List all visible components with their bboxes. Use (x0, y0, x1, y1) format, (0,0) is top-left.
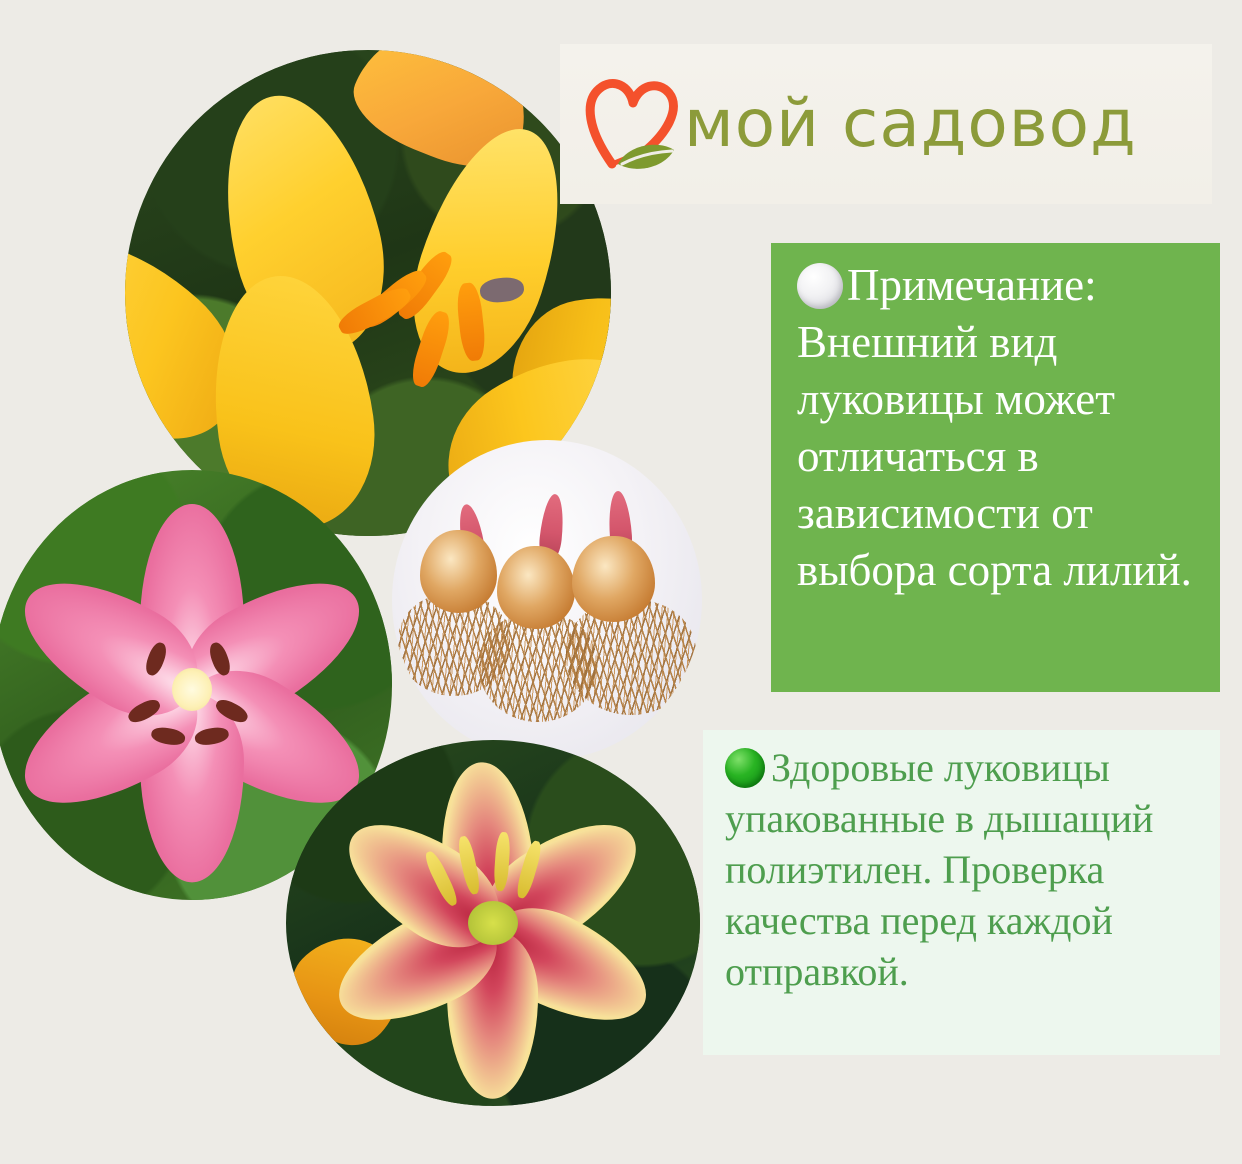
brand-logo[interactable]: мой садовод (560, 44, 1212, 204)
flower-center (468, 901, 518, 945)
note-callout-box: Примечание: Внешний вид луковицы может о… (771, 243, 1220, 692)
info-text: Здоровые луковицы упакованные в дышащий … (725, 742, 1204, 997)
lily-bulb (420, 530, 498, 613)
white-circle-bullet-icon (797, 263, 843, 309)
lily-bulb (572, 536, 656, 622)
green-circle-bullet-icon (725, 748, 765, 788)
note-body: Примечание: Внешний вид луковицы может о… (797, 260, 1192, 595)
product-info-card: мой садовод Примечание: Внешний вид луко… (0, 0, 1242, 1164)
leaf-sprout-icon (618, 145, 674, 169)
bicolor-lily-photo (286, 740, 700, 1106)
brand-name: мой садовод (684, 91, 1137, 157)
lily-bulbs-photo (392, 440, 702, 760)
note-text: Примечание: Внешний вид луковицы может о… (797, 257, 1202, 599)
lily-bulb (497, 546, 575, 629)
logo-mark (582, 68, 686, 180)
flower-center (172, 668, 212, 711)
quality-info-box: Здоровые луковицы упакованные в дышащий … (703, 730, 1220, 1055)
info-body: Здоровые луковицы упакованные в дышащий … (725, 745, 1153, 994)
